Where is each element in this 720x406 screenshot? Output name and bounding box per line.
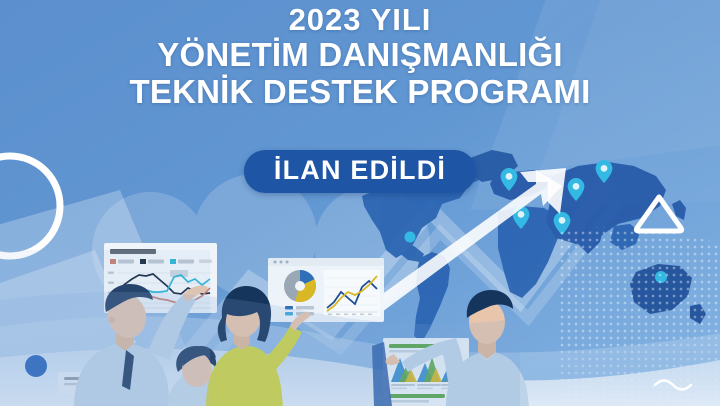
- status-badge: İLAN EDİLDİ: [244, 150, 476, 193]
- window-dots: [274, 261, 289, 264]
- poster-canvas: 2023 YILI YÖNETİM DANIŞMANLIĞI TEKNİK DE…: [0, 0, 720, 406]
- illustration-graphics: [0, 0, 720, 406]
- dashboard-line-chart: [324, 270, 380, 316]
- dashboard-pie: [284, 270, 316, 302]
- haze-overlay-2: [0, 250, 210, 406]
- badge-label: İLAN EDİLDİ: [274, 157, 446, 184]
